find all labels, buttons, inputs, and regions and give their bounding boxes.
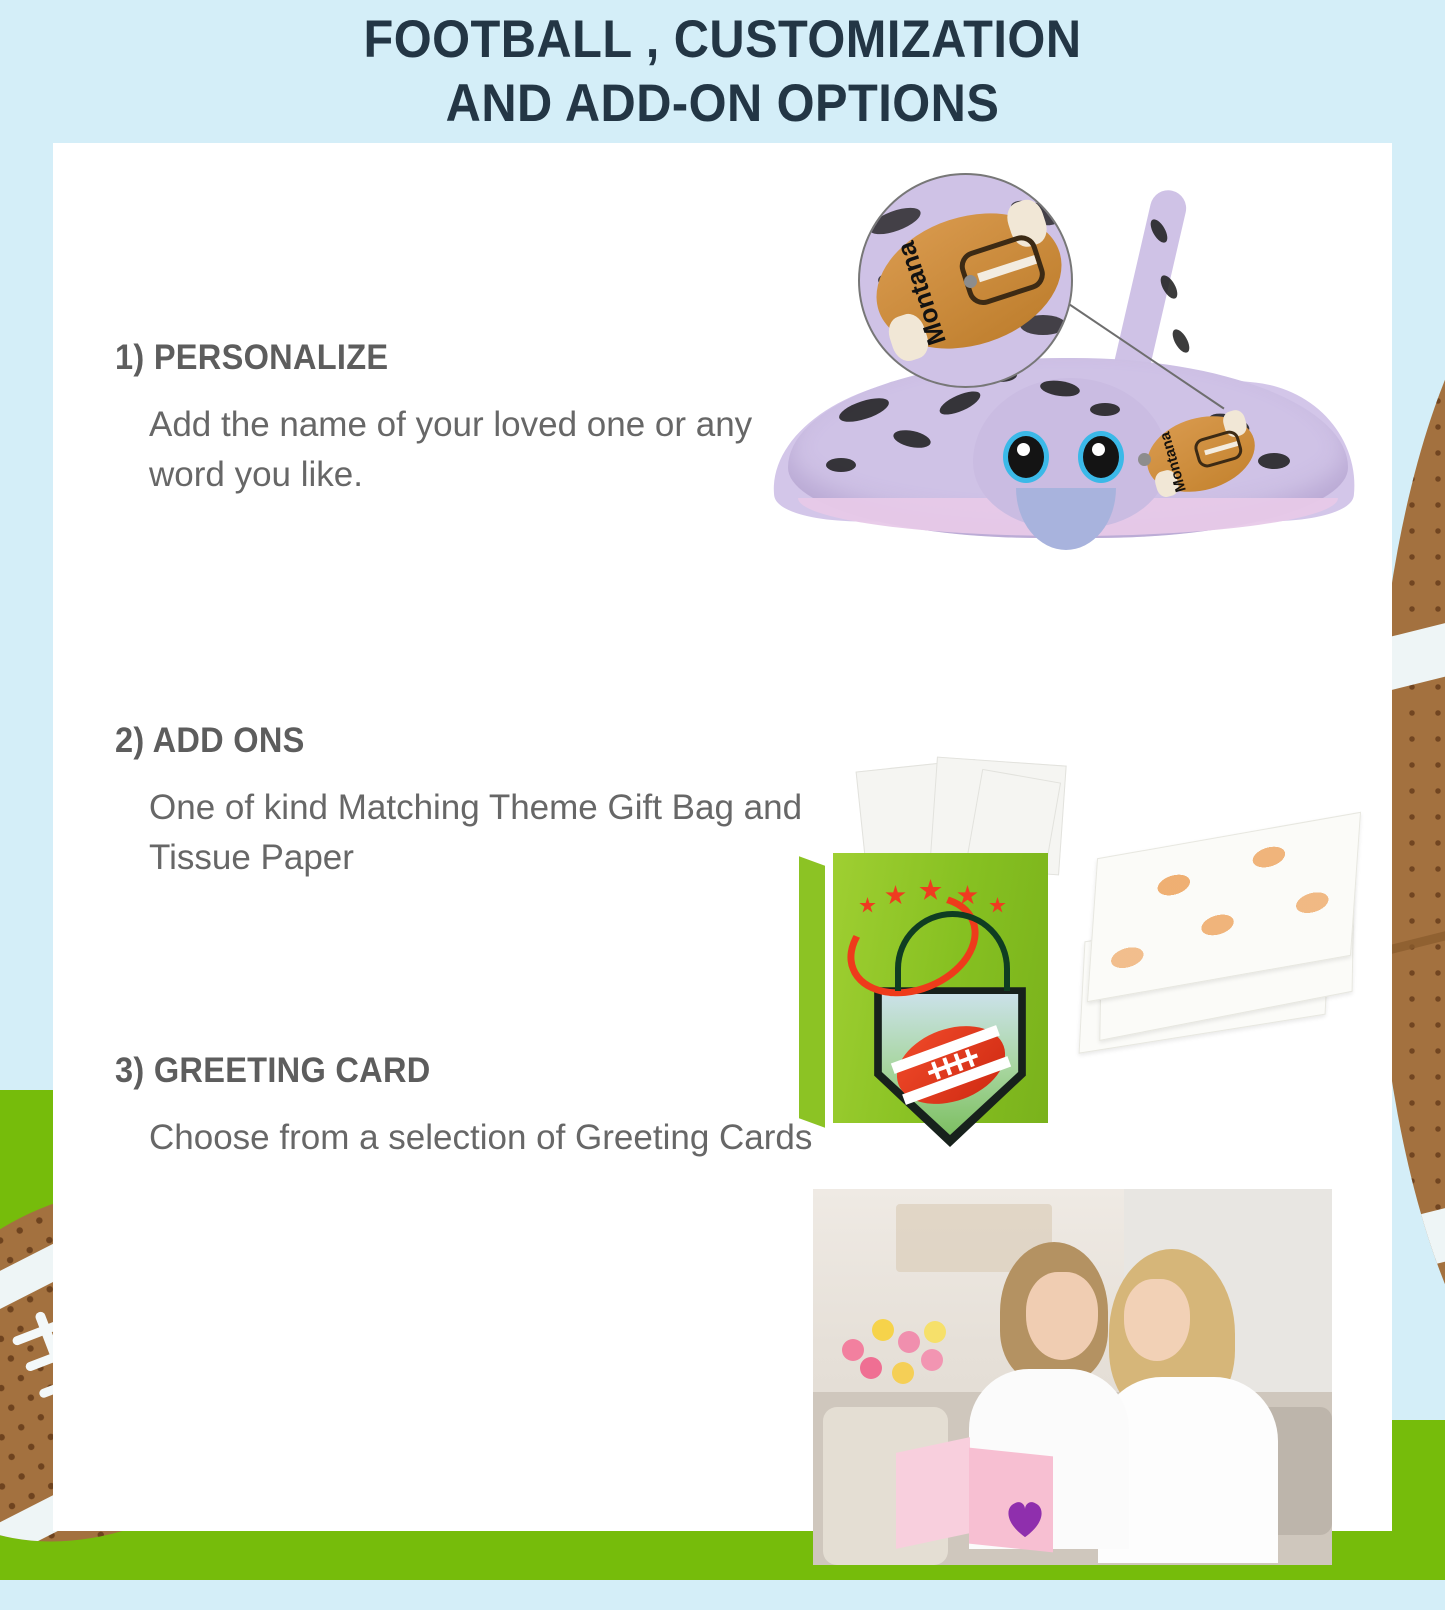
page-title-line-2: AND ADD-ON OPTIONS [58,72,1387,136]
tulip [892,1362,914,1384]
photo-card-right-panel [969,1448,1053,1553]
step-3-heading: 3) GREETING CARD [115,1051,766,1091]
stingray-spot [1090,403,1120,416]
step-greeting-card: 3) GREETING CARD Choose from a selection… [115,1051,815,1163]
stingray-plush-image: Montana Montana [778,163,1378,633]
tissue-paper-image [1068,833,1378,1103]
tulip [860,1357,882,1379]
photo-tulip-bouquet [834,1302,979,1400]
step-3-body: Choose from a selection of Greeting Card… [149,1113,815,1163]
page-title-line-1: FOOTBALL , CUSTOMIZATION [58,8,1387,72]
step-1-heading: 1) PERSONALIZE [115,338,766,378]
photo-card-left-panel [896,1437,970,1549]
greeting-card-photo [813,1189,1332,1565]
tulip [921,1349,943,1371]
step-2-heading: 2) ADD ONS [115,721,766,761]
callout-spot [866,202,924,239]
tag-attachment-dot [1138,453,1151,466]
tulip [842,1339,864,1361]
stingray-left-eye [1003,431,1049,483]
stingray-snout [1016,488,1116,550]
tulip [924,1321,946,1343]
magnified-attachment-dot [964,275,977,288]
star-icon [989,897,1006,914]
football-tag-laces [1192,428,1244,470]
tulip [872,1319,894,1341]
magnified-tag-callout: Montana [858,173,1073,388]
stingray-right-eye [1078,431,1124,483]
gift-bag-front [833,853,1048,1123]
content-card: 1) PERSONALIZE Add the name of your love… [53,143,1392,1531]
step-add-ons: 2) ADD ONS One of kind Matching Theme Gi… [115,721,815,883]
tulip [898,1331,920,1353]
stingray-spot [826,458,856,472]
stingray-spot [1258,453,1290,469]
photo-daughter-face [1026,1272,1098,1360]
gift-bag-side-panel [799,856,825,1127]
step-2-body: One of kind Matching Theme Gift Bag and … [149,783,815,883]
stingray-spot [1169,327,1192,356]
page-title: FOOTBALL , CUSTOMIZATION AND ADD-ON OPTI… [58,8,1387,136]
photo-background [813,1189,1332,1565]
step-1-body: Add the name of your loved one or any wo… [149,400,815,500]
magnified-tag-laces [956,231,1049,309]
step-personalize: 1) PERSONALIZE Add the name of your love… [115,338,815,500]
